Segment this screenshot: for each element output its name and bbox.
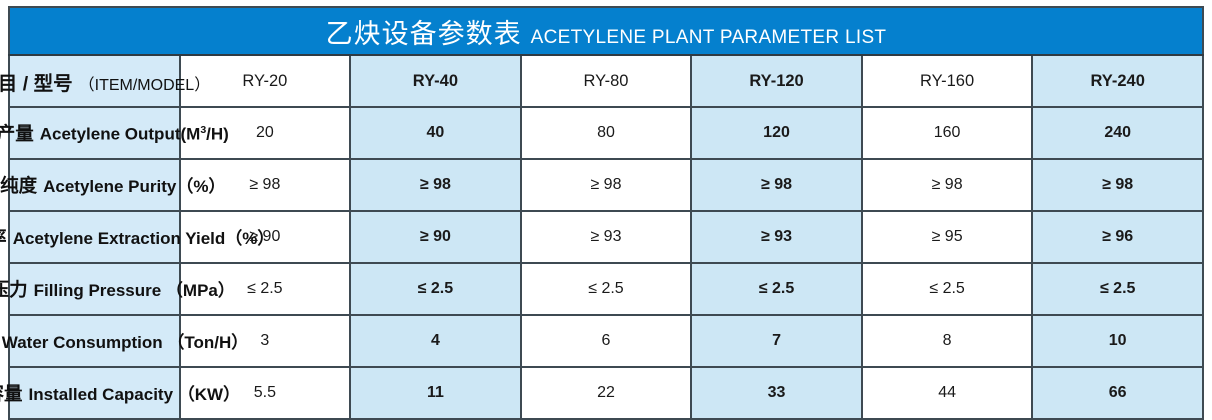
column-header-ry-120: RY-120 — [691, 55, 862, 107]
cell-value: ≤ 2.5 — [691, 263, 862, 315]
parameter-table-container: 乙炔设备参数表 ACETYLENE PLANT PARAMETER LIST 项… — [0, 0, 1212, 414]
cell-value: 66 — [1032, 367, 1203, 419]
column-header-ry-160: RY-160 — [862, 55, 1033, 107]
cell-value: ≥ 98 — [1032, 159, 1203, 211]
row-label-chinese: 装机容量 — [0, 380, 22, 406]
cell-value: 6 — [521, 315, 692, 367]
cell-value: ≥ 93 — [691, 211, 862, 263]
cell-value: 44 — [862, 367, 1033, 419]
cell-value: 22 — [521, 367, 692, 419]
column-header-ry-240: RY-240 — [1032, 55, 1203, 107]
cell-value: ≤ 2.5 — [1032, 263, 1203, 315]
row-label-english: Installed Capacity （KW） — [28, 380, 240, 405]
table-title-cell: 乙炔设备参数表 ACETYLENE PLANT PARAMETER LIST — [9, 7, 1203, 55]
row-label-chinese: 乙炔提取率 — [0, 224, 7, 250]
cell-value: 10 — [1032, 315, 1203, 367]
cell-value: ≥ 95 — [862, 211, 1033, 263]
table-row: 乙炔纯度 Acetylene Purity（%） ≥ 98 ≥ 98 ≥ 98 … — [9, 159, 1203, 211]
cell-value: 80 — [521, 107, 692, 159]
cell-value: 40 — [350, 107, 521, 159]
header-label-cell: 项目 / 型号 （ITEM/MODEL） — [9, 55, 180, 107]
cell-value: 7 — [691, 315, 862, 367]
header-label-english: （ITEM/MODEL） — [79, 71, 211, 95]
row-label-chinese: 充装压力 — [0, 276, 28, 302]
table-header-row: 项目 / 型号 （ITEM/MODEL） RY-20 RY-40 RY-80 R… — [9, 55, 1203, 107]
table-title-english: ACETYLENE PLANT PARAMETER LIST — [531, 27, 887, 49]
cell-value: ≥ 98 — [691, 159, 862, 211]
cell-value: 120 — [691, 107, 862, 159]
cell-value: ≤ 2.5 — [350, 263, 521, 315]
cell-value: ≤ 2.5 — [862, 263, 1033, 315]
acetylene-parameter-table: 乙炔设备参数表 ACETYLENE PLANT PARAMETER LIST 项… — [8, 6, 1204, 420]
cell-value: ≥ 96 — [1032, 211, 1203, 263]
table-title-chinese: 乙炔设备参数表 — [326, 12, 522, 51]
row-label-installed-capacity: 装机容量 Installed Capacity （KW） — [9, 367, 180, 419]
column-header-ry-40: RY-40 — [350, 55, 521, 107]
row-label-english: Filling Pressure （MPa） — [34, 276, 235, 301]
table-row: 充装压力 Filling Pressure （MPa） ≤ 2.5 ≤ 2.5 … — [9, 263, 1203, 315]
cell-value: ≤ 2.5 — [521, 263, 692, 315]
row-label-english: Water Consumption （Ton/H） — [2, 328, 248, 353]
cell-value: 160 — [862, 107, 1033, 159]
cell-value: 8 — [862, 315, 1033, 367]
cell-value: 4 — [350, 315, 521, 367]
row-label-extraction-yield: 乙炔提取率 Acetylene Extraction Yield（%） — [9, 211, 180, 263]
table-title-row: 乙炔设备参数表 ACETYLENE PLANT PARAMETER LIST — [9, 7, 1203, 55]
cell-value: 240 — [1032, 107, 1203, 159]
cell-value: ≥ 98 — [862, 159, 1033, 211]
row-label-chinese: 乙炔纯度 — [0, 172, 37, 198]
cell-value: 11 — [350, 367, 521, 419]
cell-value: 33 — [691, 367, 862, 419]
row-label-acetylene-purity: 乙炔纯度 Acetylene Purity（%） — [9, 159, 180, 211]
cell-value: ≥ 98 — [350, 159, 521, 211]
row-label-chinese: 乙炔产量 — [0, 120, 34, 146]
column-header-ry-80: RY-80 — [521, 55, 692, 107]
row-label-filling-pressure: 充装压力 Filling Pressure （MPa） — [9, 263, 180, 315]
table-row: 乙炔产量 Acetylene Output(M3/H) 20 40 80 120… — [9, 107, 1203, 159]
row-label-english: Acetylene Output(M3/H) — [40, 124, 229, 145]
row-label-english: Acetylene Extraction Yield（%） — [13, 224, 275, 249]
table-row: 乙炔提取率 Acetylene Extraction Yield（%） ≥ 90… — [9, 211, 1203, 263]
row-label-english: Acetylene Purity（%） — [43, 172, 225, 197]
cell-value: ≥ 90 — [350, 211, 521, 263]
cell-value: ≥ 98 — [521, 159, 692, 211]
table-row: 装机容量 Installed Capacity （KW） 5.5 11 22 3… — [9, 367, 1203, 419]
row-label-acetylene-output: 乙炔产量 Acetylene Output(M3/H) — [9, 107, 180, 159]
table-row: 耗水量 Water Consumption （Ton/H） 3 4 6 7 8 … — [9, 315, 1203, 367]
header-label-chinese: 项目 / 型号 — [0, 67, 73, 96]
cell-value: ≥ 93 — [521, 211, 692, 263]
row-label-water-consumption: 耗水量 Water Consumption （Ton/H） — [9, 315, 180, 367]
